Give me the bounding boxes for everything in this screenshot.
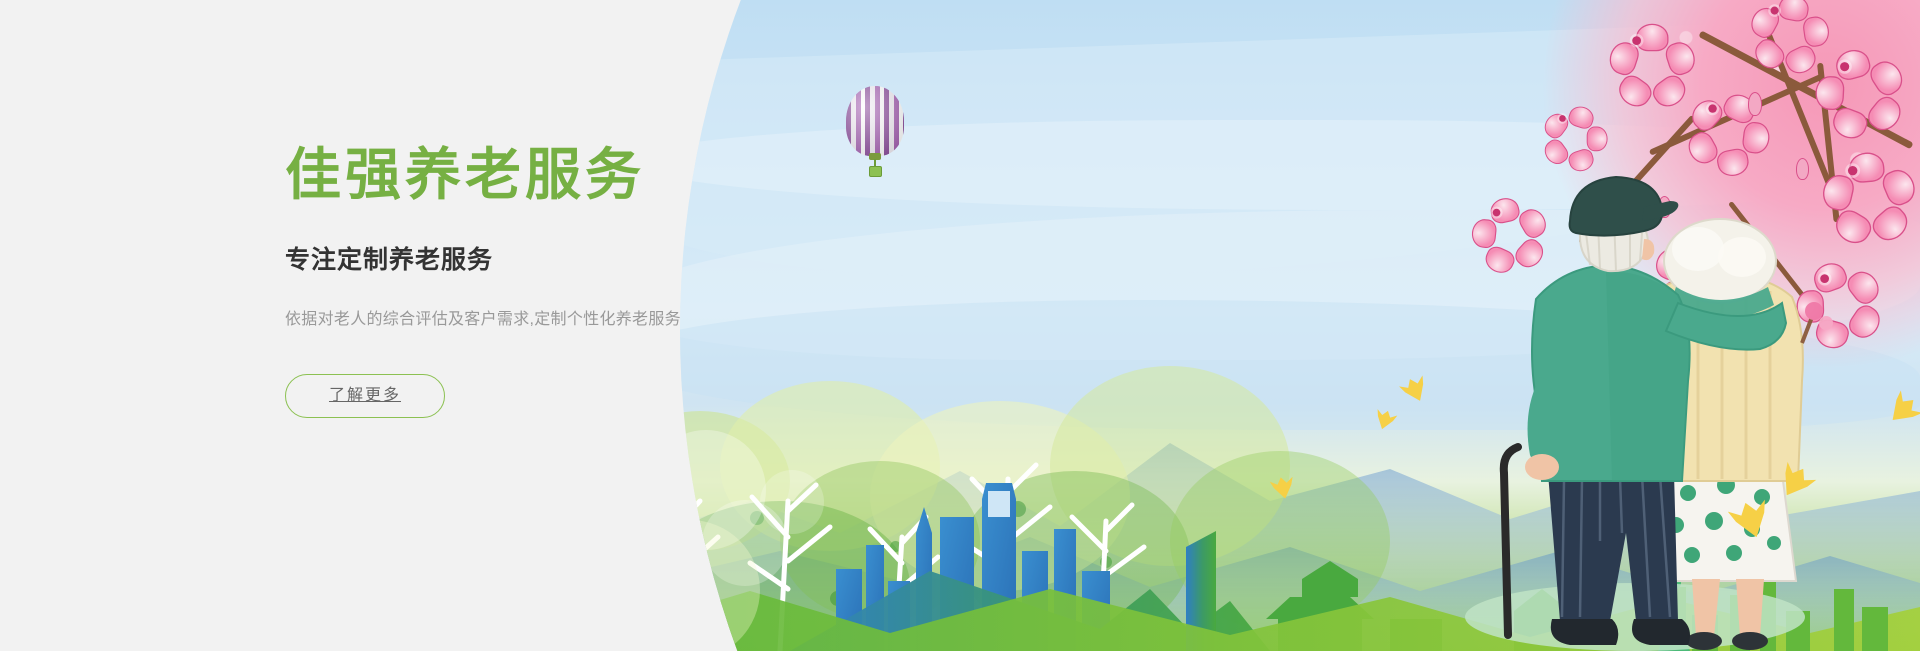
page-subtitle: 专注定制养老服务 (285, 240, 805, 276)
balloon-basket (869, 166, 882, 177)
learn-more-button[interactable]: 了解更多 (285, 374, 445, 418)
light-bubble (760, 470, 824, 534)
foliage-speckle (690, 566, 703, 579)
balloon-envelope (846, 86, 904, 156)
elderly-couple-illustration (1430, 81, 1860, 651)
hero-illustration (630, 0, 1920, 651)
page-description: 依据对老人的综合评估及客户需求,定制个性化养老服务 (285, 305, 805, 329)
hero-banner: 佳强养老服务 专注定制养老服务 依据对老人的综合评估及客户需求,定制个性化养老服… (0, 0, 1920, 651)
illustration-canvas (630, 0, 1920, 651)
hot-air-balloon-icon (846, 86, 904, 182)
page-title: 佳强养老服务 (285, 140, 805, 210)
hero-text-block: 佳强养老服务 专注定制养老服务 依据对老人的综合评估及客户需求,定制个性化养老服… (285, 140, 805, 418)
